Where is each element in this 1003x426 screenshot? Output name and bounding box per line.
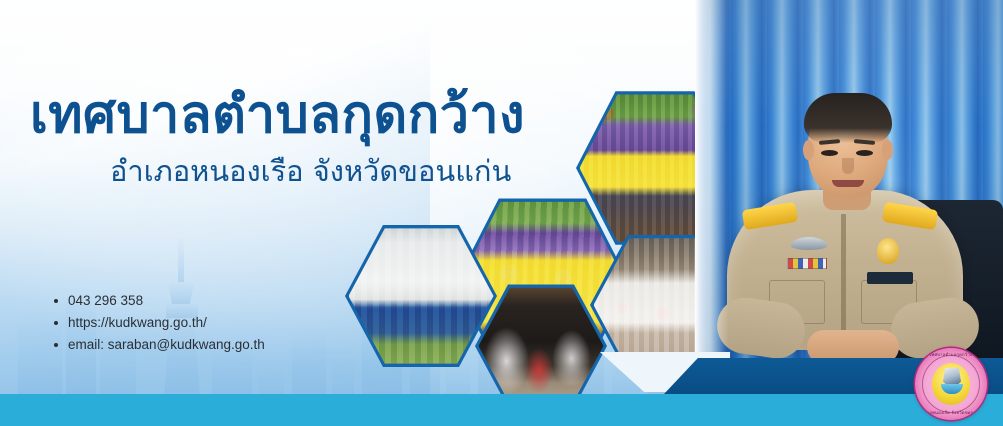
bottom-cyan-band — [0, 394, 1003, 426]
mouth — [832, 180, 864, 187]
ear-right — [882, 140, 893, 160]
ear-left — [803, 140, 814, 160]
contact-item-phone[interactable]: 043 296 358 — [52, 290, 265, 312]
wing-badge-icon — [791, 237, 827, 250]
municipality-seal-logo[interactable]: เทศบาลตำบลกุดกว้าง อำเภอหนองเรือ จังหวัด… — [915, 348, 987, 420]
contact-item-website[interactable]: https://kudkwang.go.th/ — [52, 312, 265, 334]
seal-water-icon — [941, 384, 963, 394]
gold-insignia-icon — [877, 238, 899, 264]
contact-website-label: https://kudkwang.go.th/ — [68, 315, 207, 330]
eye-left — [821, 150, 838, 156]
contact-phone-label: 043 296 358 — [68, 293, 143, 308]
municipality-banner: เทศบาลตำบลกุดกว้าง อำเภอหนองเรือ จังหวัด… — [0, 0, 1003, 426]
page-title: เทศบาลตำบลกุดกว้าง — [30, 88, 630, 143]
hair — [804, 93, 892, 143]
eye-right — [856, 150, 873, 156]
service-ribbons — [787, 258, 827, 269]
seal-text-bottom: อำเภอหนองเรือ จังหวัดขอนแก่น — [915, 409, 987, 416]
seal-core — [932, 363, 970, 405]
contact-email-label: email: saraban@kudkwang.go.th — [68, 337, 265, 352]
contact-list: 043 296 358 https://kudkwang.go.th/ emai… — [52, 290, 265, 356]
nose — [842, 158, 854, 174]
name-tag — [867, 272, 913, 284]
contact-item-email[interactable]: email: saraban@kudkwang.go.th — [52, 334, 265, 356]
seal-text-top: เทศบาลตำบลกุดกว้าง — [915, 351, 987, 358]
uniform-placket — [841, 214, 846, 342]
